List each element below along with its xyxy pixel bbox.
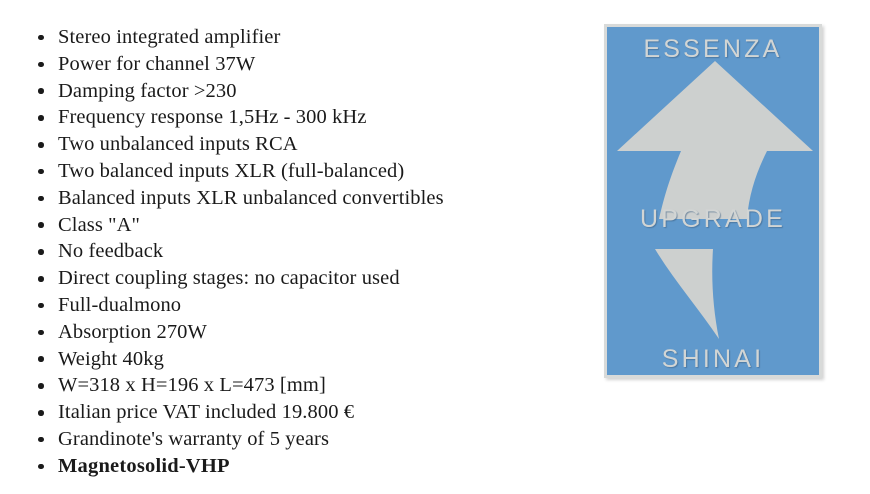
spec-list-item: Magnetosolid-VHP (0, 453, 580, 480)
spec-list-item: Frequency response 1,5Hz - 300 kHz (0, 104, 580, 131)
spec-list-item: Power for channel 37W (0, 51, 580, 78)
spec-list-item: Italian price VAT included 19.800 € (0, 399, 580, 426)
spec-list-item: Direct coupling stages: no capacitor use… (0, 265, 580, 292)
spec-list-item-label: Grandinote's warranty of 5 years (58, 428, 329, 450)
bullet-icon (38, 35, 44, 41)
specification-list: Stereo integrated amplifierPower for cha… (0, 24, 580, 480)
spec-list-item: Two unbalanced inputs RCA (0, 131, 580, 158)
bullet-icon (38, 88, 44, 94)
spec-list-item: Stereo integrated amplifier (0, 24, 580, 51)
bullet-icon (38, 437, 44, 443)
bullet-icon (38, 383, 44, 389)
spec-list-item-label: Full-dualmono (58, 294, 181, 316)
bullet-icon (38, 62, 44, 68)
spec-list-item-label: Two unbalanced inputs RCA (58, 133, 298, 155)
spec-list-item: W=318 x H=196 x L=473 [mm] (0, 372, 580, 399)
spec-list-item-label: Two balanced inputs XLR (full-balanced) (58, 160, 404, 182)
spec-list-item: Balanced inputs XLR unbalanced convertib… (0, 185, 580, 212)
bullet-icon (38, 169, 44, 175)
bullet-icon (38, 410, 44, 416)
upward-arrow-swoosh-icon (607, 53, 825, 353)
spec-list-item-label: Stereo integrated amplifier (58, 26, 280, 48)
spec-list-item: No feedback (0, 238, 580, 265)
bullet-icon (38, 196, 44, 202)
bullet-icon (38, 249, 44, 255)
bullet-icon (38, 115, 44, 121)
bullet-icon (38, 303, 44, 309)
spec-list-item-label: Italian price VAT included 19.800 € (58, 401, 354, 423)
bullet-icon (38, 356, 44, 362)
spec-list-item-label: Power for channel 37W (58, 53, 255, 75)
spec-list-item-label: Class "A" (58, 214, 140, 236)
spec-list-item-label: Absorption 270W (58, 321, 207, 343)
spec-list-item-label: Direct coupling stages: no capacitor use… (58, 267, 400, 289)
bullet-icon (38, 330, 44, 336)
essenza-shinai-logo: ESSENZA UPGRADE SHINAI (604, 24, 822, 378)
spec-list-item: Grandinote's warranty of 5 years (0, 426, 580, 453)
spec-list-item-label: Weight 40kg (58, 348, 164, 370)
bullet-icon (38, 464, 44, 470)
spec-list-item-label: Balanced inputs XLR unbalanced convertib… (58, 187, 444, 209)
bullet-icon (38, 276, 44, 282)
document-page: Stereo integrated amplifierPower for cha… (0, 0, 870, 494)
spec-list-item: Class "A" (0, 212, 580, 239)
logo-bottom-text: SHINAI (607, 345, 819, 374)
spec-list-item: Absorption 270W (0, 319, 580, 346)
spec-list-item-label: Frequency response 1,5Hz - 300 kHz (58, 106, 367, 128)
spec-list-item: Two balanced inputs XLR (full-balanced) (0, 158, 580, 185)
bullet-icon (38, 222, 44, 228)
spec-list-item: Weight 40kg (0, 346, 580, 373)
spec-list-item-label: Damping factor >230 (58, 80, 237, 102)
spec-list-item-label: No feedback (58, 240, 163, 262)
spec-list-item-label: Magnetosolid-VHP (58, 455, 230, 477)
bullet-icon (38, 142, 44, 148)
spec-list-item: Damping factor >230 (0, 78, 580, 105)
spec-list-item: Full-dualmono (0, 292, 580, 319)
logo-middle-text: UPGRADE (607, 205, 819, 234)
spec-list-item-label: W=318 x H=196 x L=473 [mm] (58, 374, 326, 396)
